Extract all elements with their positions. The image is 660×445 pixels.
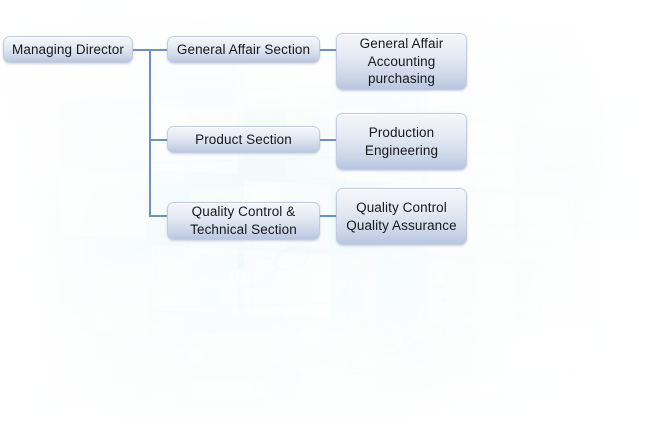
background-artwork (0, 0, 660, 445)
node-production-engineering-detail[interactable]: Production Engineering (336, 113, 467, 170)
connector-general-affair-to-detail (320, 49, 337, 51)
node-managing-director[interactable]: Managing Director (3, 36, 133, 63)
node-general-affair-section[interactable]: General Affair Section (167, 36, 320, 63)
node-general-affair-detail[interactable]: General Affair Accounting purchasing (336, 33, 467, 90)
connector-trunk-vertical (149, 49, 151, 216)
node-quality-control-technical-section[interactable]: Quality Control & Technical Section (167, 202, 320, 240)
connector-quality-to-detail (320, 215, 337, 217)
connector-trunk-to-product-section (149, 139, 167, 141)
node-product-section[interactable]: Product Section (167, 126, 320, 153)
org-chart-canvas: Managing Director General Affair Section… (0, 0, 660, 445)
connector-product-to-detail (320, 139, 337, 141)
connector-trunk-to-quality-section (149, 215, 167, 217)
node-quality-control-assurance-detail[interactable]: Quality Control Quality Assurance (336, 188, 467, 245)
